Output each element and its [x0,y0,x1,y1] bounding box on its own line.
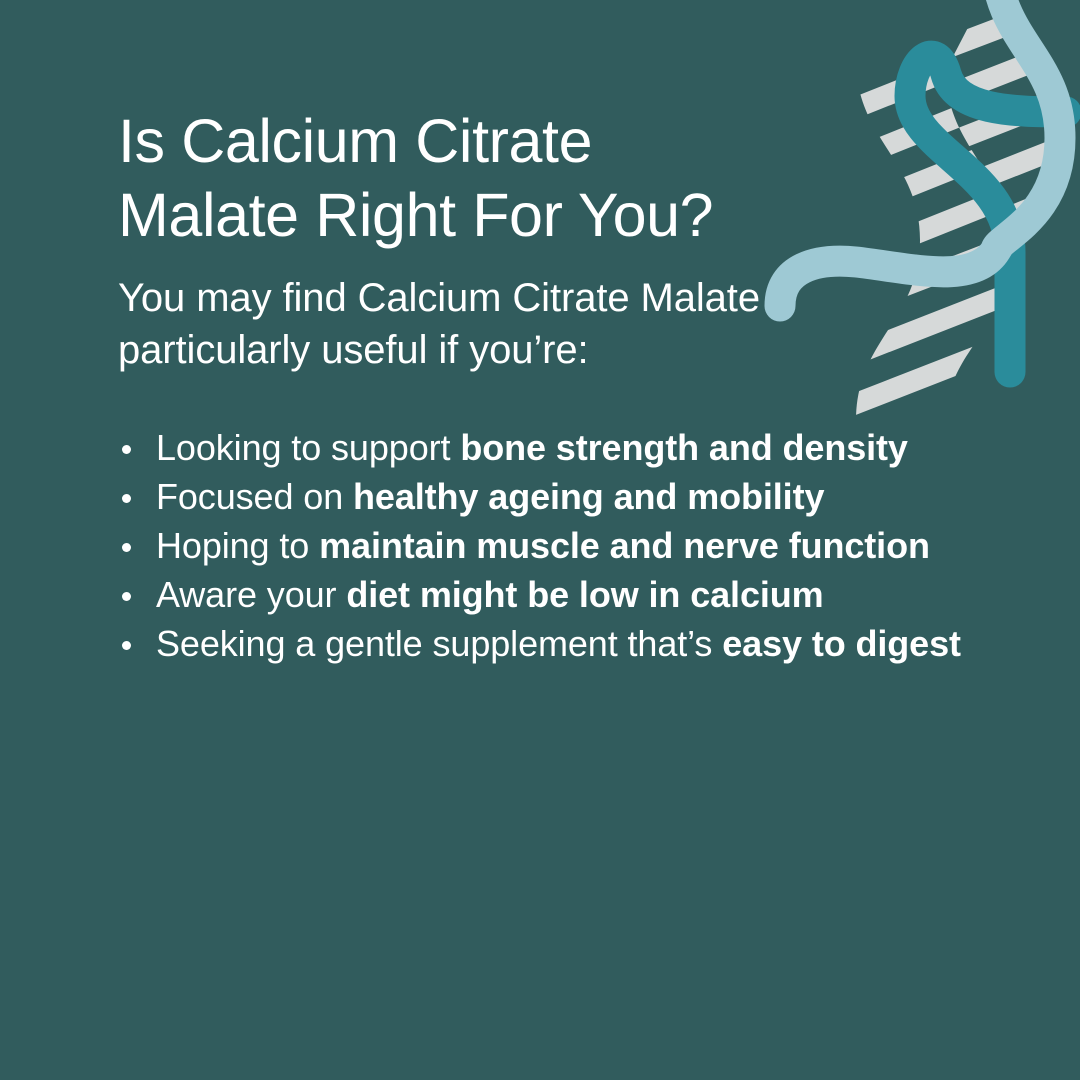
list-item: Focused on healthy ageing and mobility [118,473,978,521]
benefits-list: Looking to support bone strength and den… [118,376,978,668]
bullet-dot-icon [122,641,131,650]
list-item-emphasis: healthy ageing and mobility [353,476,824,517]
bullet-dot-icon [122,494,131,503]
list-item-emphasis: easy to digest [722,623,961,664]
page-title: Is Calcium Citrate Malate Right For You? [118,0,748,252]
list-item-lead: Seeking a gentle supplement that’s [156,623,722,664]
list-item-lead: Focused on [156,476,353,517]
page-subtitle: You may find Calcium Citrate Malate part… [118,252,818,376]
list-item: Looking to support bone strength and den… [118,424,978,472]
content-block: Is Calcium Citrate Malate Right For You?… [118,0,978,669]
bullet-dot-icon [122,445,131,454]
list-item-emphasis: bone strength and density [460,427,908,468]
list-item-emphasis: diet might be low in calcium [346,574,823,615]
list-item-lead: Aware your [156,574,346,615]
list-item: Aware your diet might be low in calcium [118,571,978,619]
list-item-lead: Looking to support [156,427,460,468]
list-item: Seeking a gentle supplement that’s easy … [118,620,978,668]
list-item: Hoping to maintain muscle and nerve func… [118,522,978,570]
list-item-lead: Hoping to [156,525,319,566]
bullet-dot-icon [122,592,131,601]
bullet-dot-icon [122,543,131,552]
infographic-card: Is Calcium Citrate Malate Right For You?… [0,0,1080,1080]
list-item-emphasis: maintain muscle and nerve function [319,525,930,566]
